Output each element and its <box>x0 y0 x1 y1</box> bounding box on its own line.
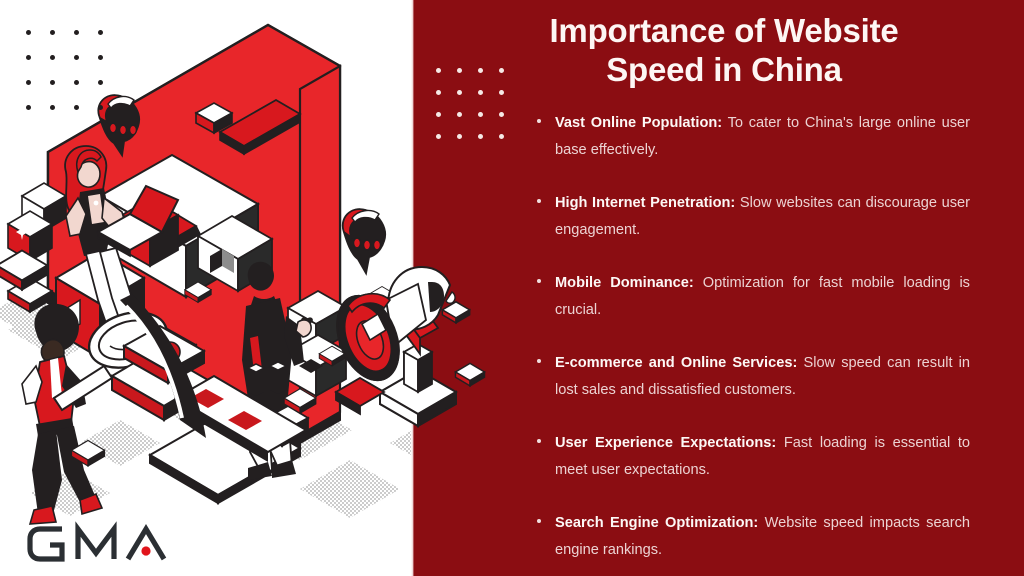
bullet-marker-icon <box>537 119 541 123</box>
page-title-line-2: Speed in China <box>444 51 1004 90</box>
dot <box>457 134 462 139</box>
dot <box>74 55 79 60</box>
list-item-lead: E-commerce and Online Services: <box>555 355 797 371</box>
dot <box>457 112 462 117</box>
bullet-marker-icon <box>537 279 541 283</box>
dot <box>436 68 441 73</box>
list-item: User Experience Expectations: Fast loadi… <box>533 430 970 484</box>
bullet-marker-icon <box>537 359 541 363</box>
dot <box>26 105 31 110</box>
dot <box>499 90 504 95</box>
speech-bubble-right <box>343 209 385 273</box>
dot <box>499 112 504 117</box>
dot <box>478 134 483 139</box>
dot <box>74 80 79 85</box>
dot <box>478 90 483 95</box>
gma-logo <box>22 520 182 566</box>
logo-accent-dot <box>141 546 150 555</box>
dot <box>98 80 103 85</box>
page-title-line-1: Importance of Website <box>444 12 1004 51</box>
list-item-lead: Search Engine Optimization: <box>555 515 758 531</box>
dot <box>98 105 103 110</box>
dot <box>436 112 441 117</box>
list-item: E-commerce and Online Services: Slow spe… <box>533 350 970 404</box>
dot <box>74 105 79 110</box>
dot <box>436 90 441 95</box>
dot <box>26 80 31 85</box>
dot <box>499 134 504 139</box>
list-item-lead: User Experience Expectations: <box>555 435 776 451</box>
decorative-dot-grid-dark <box>26 30 122 130</box>
dot <box>436 134 441 139</box>
bullet-marker-icon <box>537 199 541 203</box>
dot <box>457 90 462 95</box>
slide-root: Importance of Website Speed in China Vas… <box>0 0 1024 576</box>
list-item: Vast Online Population: To cater to Chin… <box>533 110 970 164</box>
dot <box>26 55 31 60</box>
dot <box>50 80 55 85</box>
list-item: Mobile Dominance: Optimization for fast … <box>533 270 970 324</box>
list-item-lead: Mobile Dominance: <box>555 275 694 291</box>
bullet-marker-icon <box>537 439 541 443</box>
page-title: Importance of Website Speed in China <box>444 12 1004 90</box>
dot <box>26 30 31 35</box>
dot <box>478 112 483 117</box>
dot <box>50 105 55 110</box>
bullet-marker-icon <box>537 519 541 523</box>
dot <box>50 30 55 35</box>
list-item-lead: Vast Online Population: <box>555 115 722 131</box>
dot <box>50 55 55 60</box>
bullet-list: Vast Online Population: To cater to Chin… <box>533 110 970 564</box>
list-item: Search Engine Optimization: Website spee… <box>533 510 970 564</box>
list-item-lead: High Internet Penetration: <box>555 195 735 211</box>
dot <box>98 55 103 60</box>
list-item: High Internet Penetration: Slow websites… <box>533 190 970 244</box>
megaphone-overlap-layer <box>330 265 510 425</box>
dot <box>74 30 79 35</box>
dot <box>98 30 103 35</box>
